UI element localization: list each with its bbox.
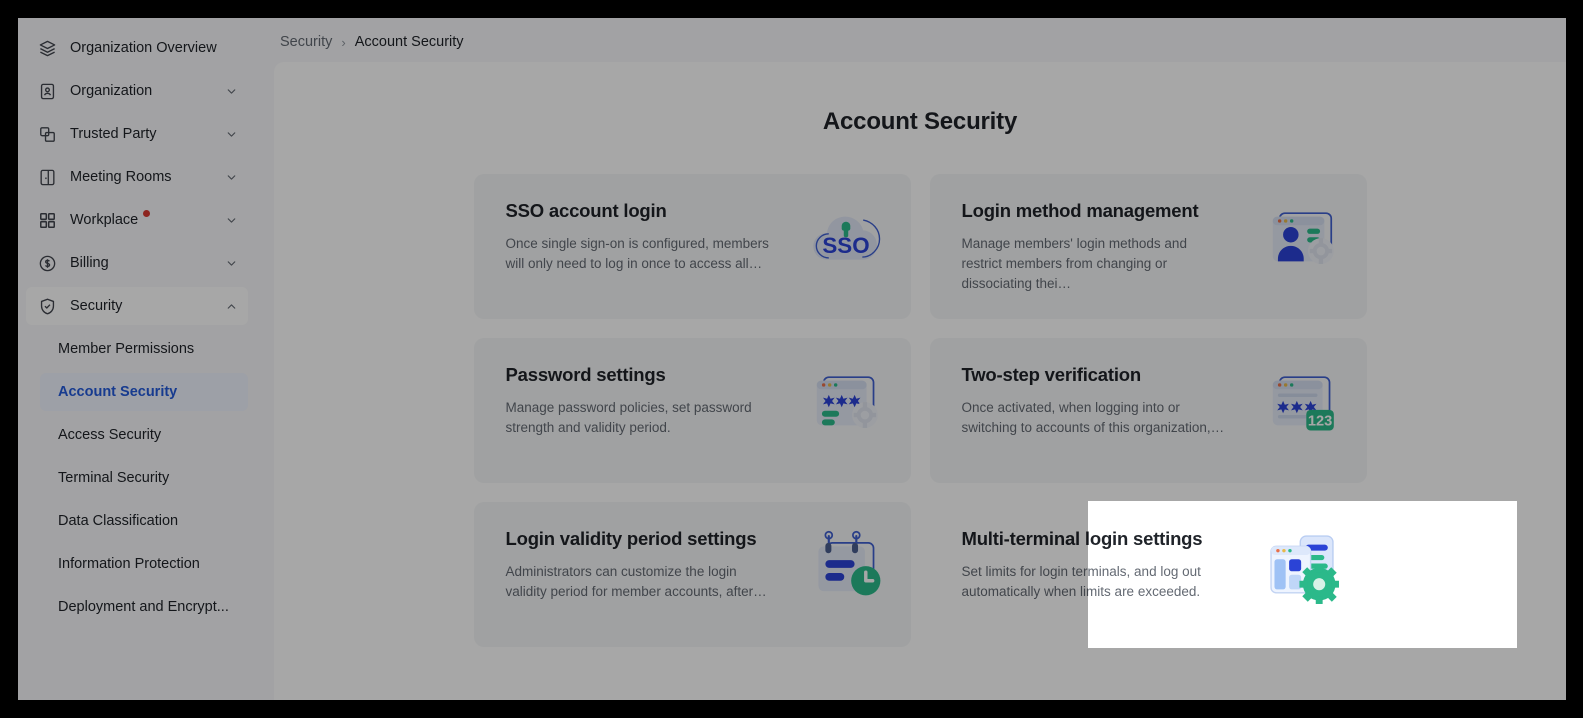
grid-icon <box>38 211 57 230</box>
card-password-settings[interactable]: Password settings Manage password polici… <box>474 338 911 483</box>
password-gear-icon <box>803 360 889 446</box>
sidebar-item-meeting-rooms[interactable]: Meeting Rooms <box>26 158 248 196</box>
breadcrumb: Security › Account Security <box>280 31 464 53</box>
card-multi-terminal-login-settings[interactable]: Multi-terminal login settings Set limits… <box>930 502 1367 647</box>
card-description: Set limits for login terminals, and log … <box>962 562 1230 602</box>
sidebar-subitem-information-protection[interactable]: Information Protection <box>40 545 248 583</box>
sidebar-item-organization-overview[interactable]: Organization Overview <box>26 29 248 67</box>
card-description: Manage password policies, set password s… <box>506 398 774 438</box>
sidebar-subitem-account-security[interactable]: Account Security <box>40 373 248 411</box>
sidebar-item-security[interactable]: Security <box>26 287 248 325</box>
page-title: Account Security <box>274 108 1566 136</box>
sidebar-item-label: Trusted Party <box>70 126 225 142</box>
breadcrumb-current: Account Security <box>355 34 464 50</box>
dollar-circle-icon <box>38 254 57 273</box>
sidebar-item-label: Meeting Rooms <box>70 169 225 185</box>
sidebar-item-workplace[interactable]: Workplace <box>26 201 248 239</box>
sidebar-item-label: Security <box>70 298 225 314</box>
main-area: Security › Account Security Account Secu… <box>256 18 1566 700</box>
frame-left <box>0 0 18 718</box>
app-window: Organization Overview Organization Trust… <box>18 18 1566 700</box>
chevron-down-icon[interactable] <box>225 257 238 270</box>
sidebar-item-label: Organization <box>70 83 225 99</box>
svg-text:123: 123 <box>1307 413 1331 429</box>
frame-top <box>0 0 1583 18</box>
chevron-up-icon[interactable] <box>225 300 238 313</box>
door-icon <box>38 168 57 187</box>
user-settings-icon <box>1259 196 1345 282</box>
card-description: Manage members' login methods and restri… <box>962 234 1230 294</box>
calendar-clock-icon <box>803 524 889 610</box>
sidebar-item-label: Billing <box>70 255 225 271</box>
content-pane: Account Security SSO account login Once … <box>274 62 1566 700</box>
notification-badge-dot <box>143 210 150 217</box>
copy-icon <box>38 125 57 144</box>
sidebar-subitem-label: Member Permissions <box>58 341 194 357</box>
card-sso-account-login[interactable]: SSO account login Once single sign-on is… <box>474 174 911 319</box>
card-two-step-verification[interactable]: Two-step verification Once activated, wh… <box>930 338 1367 483</box>
card-description: Once activated, when logging into or swi… <box>962 398 1230 438</box>
sidebar-subitem-label: Data Classification <box>58 513 178 529</box>
sidebar-subitem-deployment-and-encryption[interactable]: Deployment and Encrypt... <box>40 588 248 626</box>
devices-gear-icon <box>1259 524 1345 610</box>
sidebar-subitem-label: Deployment and Encrypt... <box>58 599 229 615</box>
breadcrumb-separator-icon: › <box>341 35 345 50</box>
sidebar-subitem-label: Terminal Security <box>58 470 169 486</box>
sidebar-item-billing[interactable]: Billing <box>26 244 248 282</box>
sidebar-subitem-terminal-security[interactable]: Terminal Security <box>40 459 248 497</box>
sidebar-subitem-label: Access Security <box>58 427 161 443</box>
sidebar-subitem-label: Account Security <box>58 384 177 400</box>
card-description: Once single sign-on is configured, membe… <box>506 234 774 274</box>
card-description: Administrators can customize the login v… <box>506 562 774 602</box>
chevron-down-icon[interactable] <box>225 85 238 98</box>
card-login-method-management[interactable]: Login method management Manage members' … <box>930 174 1367 319</box>
svg-text:SSO: SSO <box>822 233 869 258</box>
sidebar: Organization Overview Organization Trust… <box>18 18 256 700</box>
sidebar-item-label: Organization Overview <box>70 40 238 56</box>
id-card-icon <box>38 82 57 101</box>
sidebar-item-organization[interactable]: Organization <box>26 72 248 110</box>
sidebar-item-trusted-party[interactable]: Trusted Party <box>26 115 248 153</box>
sidebar-subitem-member-permissions[interactable]: Member Permissions <box>40 330 248 368</box>
chevron-down-icon[interactable] <box>225 128 238 141</box>
sidebar-subitem-access-security[interactable]: Access Security <box>40 416 248 454</box>
frame-right <box>1566 0 1583 718</box>
sidebar-subitem-label: Information Protection <box>58 556 200 572</box>
chevron-down-icon[interactable] <box>225 171 238 184</box>
shield-check-icon <box>38 297 57 316</box>
sso-cloud-icon: SSO <box>803 196 889 282</box>
settings-card-grid: SSO account login Once single sign-on is… <box>274 174 1566 647</box>
breadcrumb-parent[interactable]: Security <box>280 34 332 50</box>
chevron-down-icon[interactable] <box>225 214 238 227</box>
two-step-123-icon: 123 <box>1259 360 1345 446</box>
frame-bottom <box>0 700 1583 718</box>
sidebar-subitem-data-classification[interactable]: Data Classification <box>40 502 248 540</box>
card-login-validity-period-settings[interactable]: Login validity period settings Administr… <box>474 502 911 647</box>
layers-icon <box>38 39 57 58</box>
